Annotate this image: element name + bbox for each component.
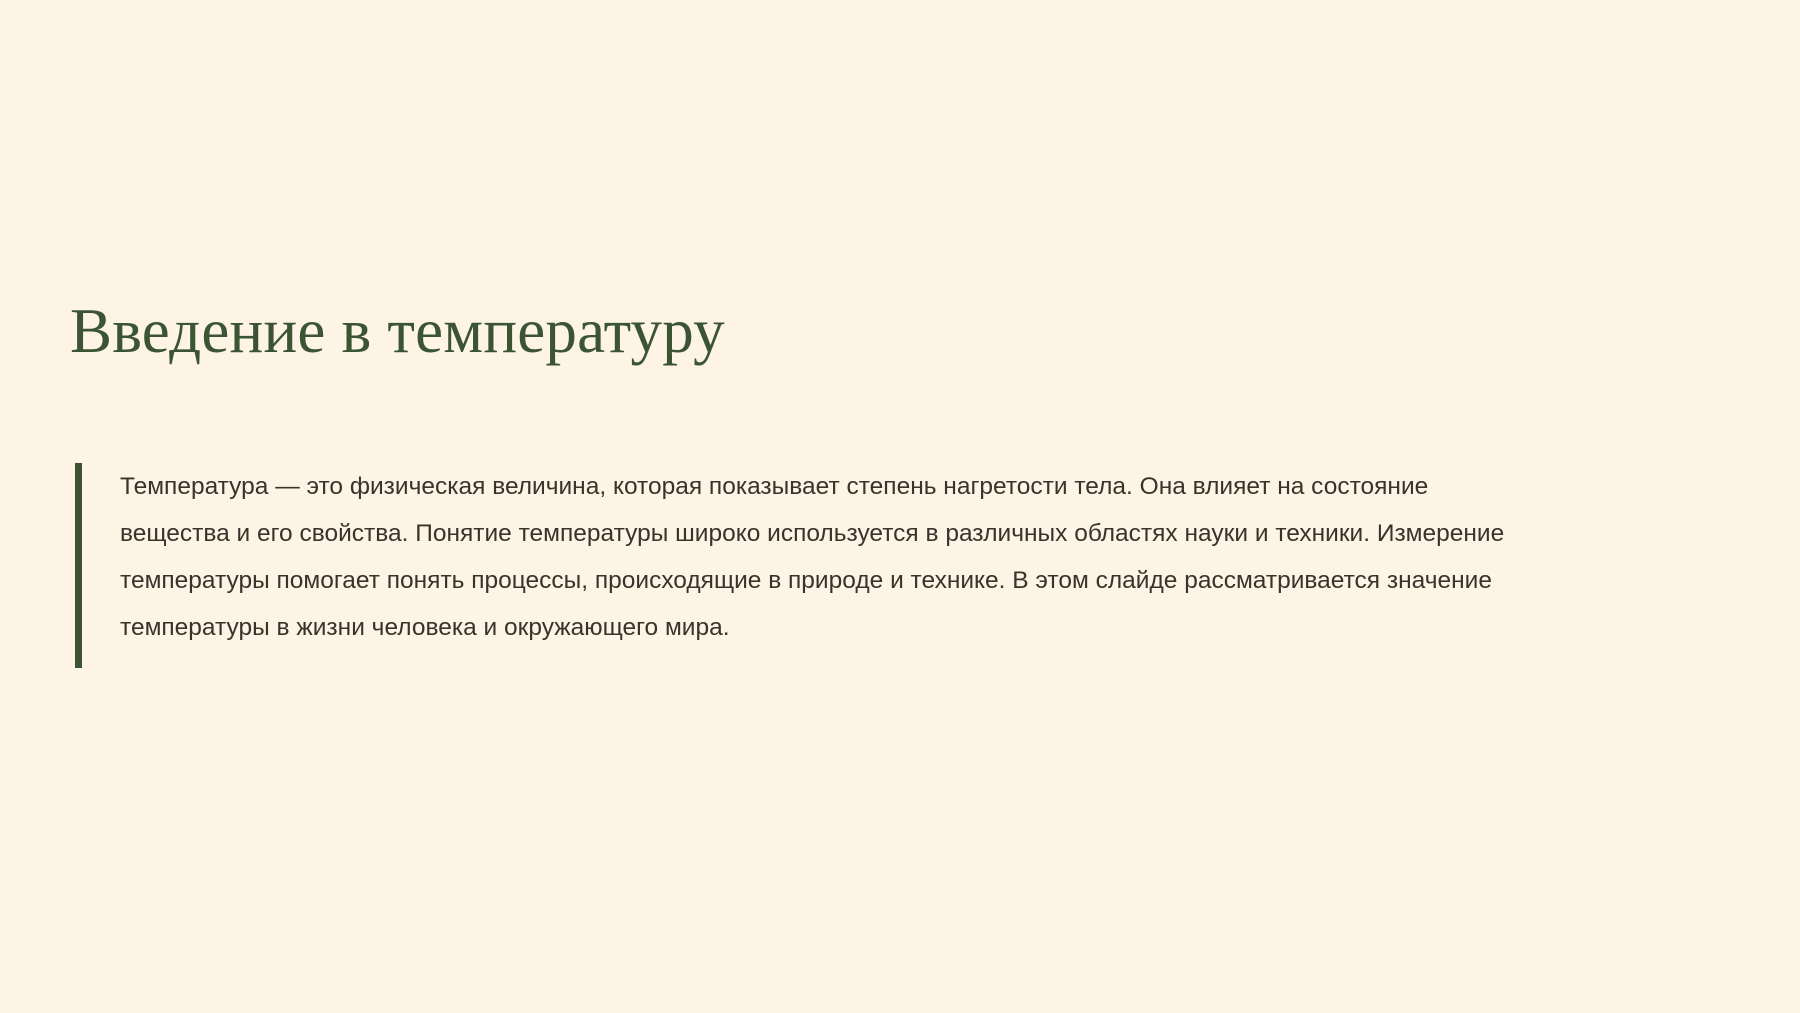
page-title: Введение в температуру [70,296,1670,367]
body-paragraph: Температура — это физическая величина, к… [82,463,1505,668]
body-callout: Температура — это физическая величина, к… [75,463,1505,668]
accent-bar [75,463,82,668]
slide-content: Введение в температуру Температура — это… [0,0,1800,1013]
presentation-slide: Введение в температуру Температура — это… [0,0,1800,1013]
